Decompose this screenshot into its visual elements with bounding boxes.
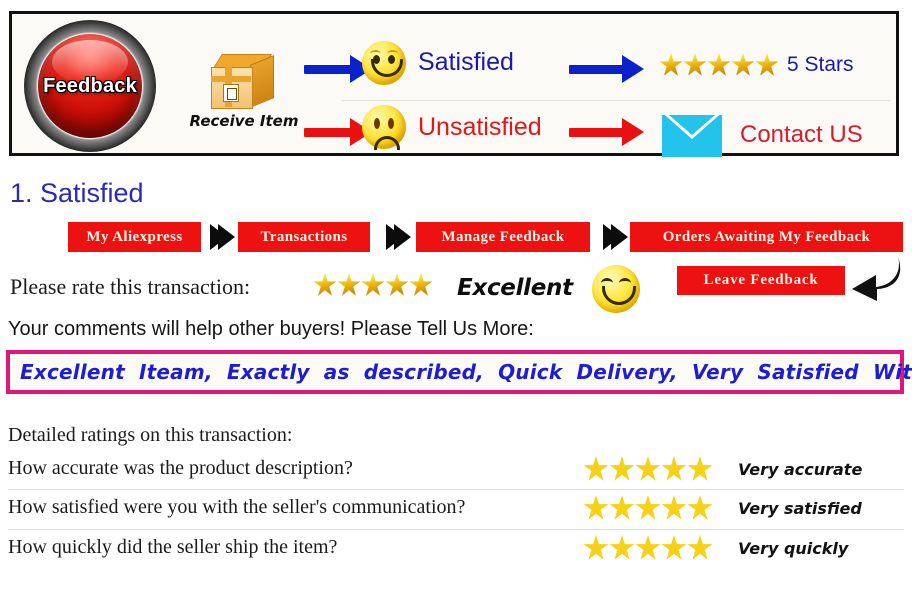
- row-divider: [8, 529, 904, 530]
- star-icon[interactable]: [661, 535, 687, 561]
- contact-us-label[interactable]: Contact US: [740, 121, 863, 149]
- star-icon[interactable]: [661, 456, 687, 482]
- star-icon[interactable]: [635, 456, 661, 482]
- happy-smiley-icon-large: [592, 265, 640, 313]
- unsatisfied-label: Unsatisfied: [418, 113, 542, 142]
- table-row: How accurate was the product description…: [8, 450, 904, 490]
- chevron-right-icon: [394, 224, 411, 250]
- gold-star-icon: [659, 53, 683, 77]
- gold-star-icon[interactable]: [385, 273, 409, 297]
- receive-item-group: Receive Item: [185, 54, 303, 130]
- star-icon[interactable]: [609, 535, 635, 561]
- gold-star-icon[interactable]: [409, 273, 433, 297]
- rating-label: Very quickly: [738, 539, 848, 558]
- gold-star-icon[interactable]: [313, 273, 337, 297]
- rating-question: How quickly did the seller ship the item…: [8, 536, 337, 559]
- star-icon[interactable]: [661, 495, 687, 521]
- comments-prompt: Your comments will help other buyers! Pl…: [8, 318, 534, 341]
- sad-smiley-icon: [362, 105, 406, 149]
- breadcrumb-item-orders-awaiting-my-feedback[interactable]: Orders Awaiting My Feedback: [630, 222, 903, 252]
- gold-star-icon: [683, 53, 707, 77]
- breadcrumb-item-manage-feedback[interactable]: Manage Feedback: [416, 222, 590, 252]
- detailed-ratings-title: Detailed ratings on this transaction:: [8, 424, 292, 447]
- row-divider: [8, 489, 904, 490]
- breadcrumb-item-transactions[interactable]: Transactions: [238, 222, 370, 252]
- five-stars-label: 5 Stars: [787, 53, 854, 77]
- page-title: 1. Satisfied: [10, 178, 144, 209]
- star-icon[interactable]: [583, 535, 609, 561]
- rate-transaction-prompt: Please rate this transaction:: [10, 274, 250, 300]
- gold-star-icon: [731, 53, 755, 77]
- gold-star-icon[interactable]: [361, 273, 385, 297]
- chevron-right-icon: [611, 224, 628, 250]
- envelope-icon[interactable]: [662, 115, 722, 157]
- transaction-star-rating[interactable]: [313, 273, 433, 297]
- feedback-button-label: Feedback: [43, 75, 137, 98]
- curved-arrow-icon: [846, 255, 904, 308]
- chevron-right-icon: [218, 224, 235, 250]
- gold-star-icon: [755, 53, 779, 77]
- star-icon[interactable]: [583, 495, 609, 521]
- satisfied-label: Satisfied: [418, 48, 514, 77]
- curved-arrow-svg: [846, 255, 904, 303]
- star-icon[interactable]: [687, 535, 713, 561]
- table-row: How satisfied were you with the seller's…: [8, 489, 904, 529]
- star-icon[interactable]: [583, 456, 609, 482]
- feedback-button-icon[interactable]: Feedback: [24, 20, 156, 152]
- rating-question: How satisfied were you with the seller's…: [8, 496, 465, 519]
- banner-divider: [342, 100, 890, 101]
- rating-label: Very satisfied: [738, 499, 862, 518]
- rating-stars[interactable]: [583, 495, 713, 521]
- breadcrumb-item-my-aliexpress[interactable]: My Aliexpress: [68, 222, 201, 252]
- star-icon[interactable]: [609, 456, 635, 482]
- gold-star-icon: [707, 53, 731, 77]
- star-icon[interactable]: [635, 495, 661, 521]
- gold-star-icon[interactable]: [337, 273, 361, 297]
- star-icon[interactable]: [635, 535, 661, 561]
- banner-star-rating: [659, 53, 779, 77]
- star-icon[interactable]: [687, 456, 713, 482]
- comment-text: Excellent Iteam, Exactly as described, Q…: [10, 360, 912, 384]
- feedback-instruction-banner: Feedback Receive Item Satisfied: [9, 11, 899, 156]
- rating-stars[interactable]: [583, 535, 713, 561]
- rating-label: Very accurate: [738, 460, 862, 479]
- comment-box[interactable]: Excellent Iteam, Exactly as described, Q…: [6, 350, 904, 394]
- leave-feedback-button[interactable]: Leave Feedback: [677, 266, 845, 295]
- rating-question: How accurate was the product description…: [8, 457, 353, 480]
- table-row: How quickly did the seller ship the item…: [8, 529, 904, 569]
- star-icon[interactable]: [609, 495, 635, 521]
- star-icon[interactable]: [687, 495, 713, 521]
- package-box-icon: [211, 54, 277, 110]
- rating-stars[interactable]: [583, 456, 713, 482]
- happy-smiley-icon: [362, 41, 406, 85]
- rating-value-label: Excellent: [457, 275, 573, 301]
- receive-item-label: Receive Item: [185, 112, 303, 130]
